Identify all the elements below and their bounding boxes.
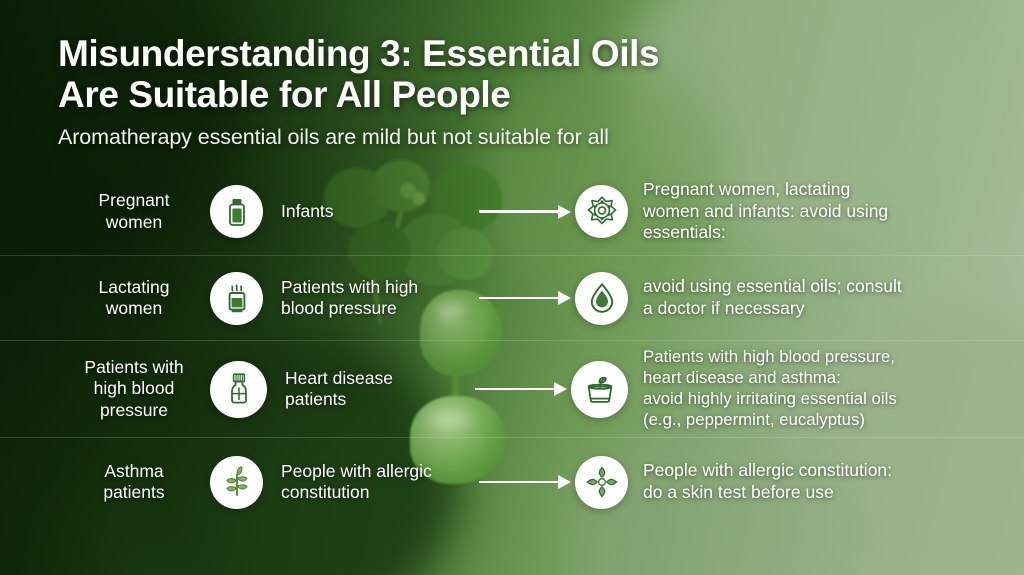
arrow-head	[558, 291, 571, 305]
title-line-1: Misunderstanding 3: Essential Oils	[58, 33, 958, 74]
table-row: Pregnant women Infants	[0, 168, 1024, 256]
header: Misunderstanding 3: Essential Oils Are S…	[58, 33, 958, 150]
middle-label-line-2: patients	[285, 389, 475, 410]
group-label: Patients with high blood pressure	[58, 357, 210, 421]
middle-label: Infants	[263, 201, 479, 222]
result-line: (e.g., peppermint, eucalyptus)	[643, 410, 998, 431]
group-label-line-2: women	[58, 298, 210, 319]
middle-label-line-1: Patients with high	[281, 277, 479, 298]
middle-label: Patients with high blood pressure	[263, 277, 479, 320]
result-line: avoid using essential oils; consult	[643, 276, 998, 298]
arrow-right-icon	[479, 201, 575, 223]
middle-label-line-2: constitution	[281, 482, 479, 503]
arrow-shaft	[479, 481, 561, 483]
result-line: do a skin test before use	[643, 482, 998, 504]
mortar-plant-icon	[571, 361, 628, 418]
result-line: Patients with high blood pressure,	[643, 347, 998, 368]
arrow-head	[558, 475, 571, 489]
page-subtitle: Aromatherapy essential oils are mild but…	[58, 125, 958, 150]
result-line: Pregnant women, lactating	[643, 179, 998, 201]
group-label-line-1: Pregnant	[58, 190, 210, 211]
group-label-line-2: women	[58, 212, 210, 233]
group-label-line-1: Patients with	[58, 357, 210, 378]
dropper-bottle-icon	[210, 361, 267, 418]
table-row: Asthma patients People with allergic con…	[0, 438, 1024, 526]
table-row: Lactating women Patients with high b	[0, 256, 1024, 341]
result-text: avoid using essential oils; consult a do…	[628, 276, 998, 320]
middle-label-line-1: Infants	[281, 201, 479, 222]
oil-bottle-icon	[210, 185, 263, 238]
group-label-line-1: Asthma	[58, 461, 210, 482]
result-text: Pregnant women, lactating women and infa…	[628, 179, 998, 245]
table-row: Patients with high blood pressure	[0, 341, 1024, 438]
result-line: a doctor if necessary	[643, 298, 998, 320]
arrow-right-icon	[479, 287, 575, 309]
result-text: People with allergic constitution: do a …	[628, 460, 998, 504]
water-drop-icon	[575, 272, 628, 325]
result-line: heart disease and asthma:	[643, 368, 998, 389]
group-label: Pregnant women	[58, 190, 210, 233]
arrow-head	[558, 205, 571, 219]
arrow-right-icon	[475, 378, 571, 400]
result-line: People with allergic constitution:	[643, 460, 998, 482]
four-petal-flower-icon	[575, 456, 628, 509]
arrow-shaft	[479, 297, 561, 299]
group-label-line-3: pressure	[58, 400, 210, 421]
title-line-2: Are Suitable for All People	[58, 74, 958, 115]
page-title: Misunderstanding 3: Essential Oils Are S…	[58, 33, 958, 116]
result-line: avoid highly irritating essential oils	[643, 389, 998, 410]
group-label-line-1: Lactating	[58, 277, 210, 298]
middle-label: People with allergic constitution	[263, 461, 479, 504]
group-label-line-2: high blood	[58, 378, 210, 399]
result-line: essentials:	[643, 222, 998, 244]
middle-label: Heart disease patients	[267, 368, 475, 411]
arrow-right-icon	[479, 471, 575, 493]
group-label: Lactating women	[58, 277, 210, 320]
arrow-head	[554, 382, 567, 396]
arrow-shaft	[475, 388, 557, 390]
arrow-shaft	[479, 210, 561, 212]
infographic-content: Misunderstanding 3: Essential Oils Are S…	[0, 0, 1024, 575]
middle-label-line-2: blood pressure	[281, 298, 479, 319]
steam-diffuser-icon	[210, 272, 263, 325]
group-label: Asthma patients	[58, 461, 210, 504]
group-label-line-2: patients	[58, 482, 210, 503]
leaf-sprig-icon	[210, 456, 263, 509]
middle-label-line-1: Heart disease	[285, 368, 475, 389]
result-text: Patients with high blood pressure, heart…	[628, 347, 998, 431]
result-line: women and infants: avoid using	[643, 201, 998, 223]
mandala-flower-icon	[575, 185, 628, 238]
rows-container: Pregnant women Infants	[0, 168, 1024, 526]
middle-label-line-1: People with allergic	[281, 461, 479, 482]
